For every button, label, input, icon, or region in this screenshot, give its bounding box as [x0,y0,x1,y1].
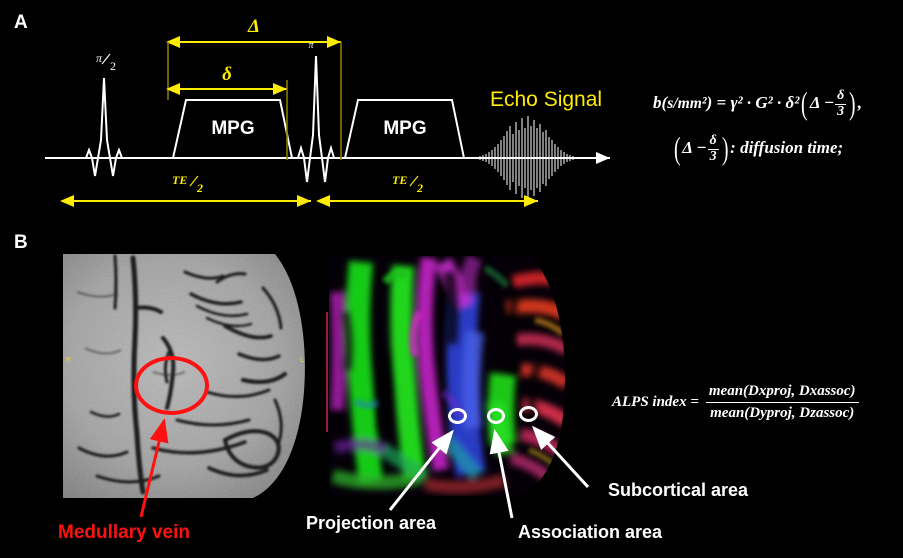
delta-small-label: δ [222,64,232,85]
mpg-label-1: MPG [211,118,254,139]
pulse-sequence-diagram: MPG MPG [0,0,620,225]
rf-pulse-pi [295,56,338,182]
dt-frac-denominator: 3 [708,150,719,165]
medullary-vein-highlight-ellipse [134,356,209,415]
b-lhs: b( [653,93,667,112]
b-paren-open: ( [801,86,808,122]
te-half-2-numerator: TE [392,173,407,187]
color-coded-dti-fa-map [325,252,588,500]
dt-tail-text: : diffusion time; [730,138,843,157]
b-paren-close: ) [849,86,856,122]
b-value-formula: b(s/mm²) = γ² · G² · δ²(Δ −δ3), (Δ −δ3):… [620,86,895,167]
roi-circle-subcortical [519,406,538,422]
te-half-1-numerator: TE [172,173,187,187]
diffusion-time-definition: (Δ −δ3): diffusion time; [620,131,895,167]
rf-pulse-pi-over-2-label: π 2 [96,51,116,73]
roi-circle-projection [448,408,467,424]
b-delta-big-term: Δ − [810,93,834,112]
b-delta-over-three: δ3 [835,89,846,119]
b-value-formula-line-1: b(s/mm²) = γ² · G² · δ²(Δ −δ3), [620,86,895,122]
te-half-2-denominator: 2 [416,181,423,195]
medullary-vein-label: Medullary vein [58,522,190,544]
orientation-marker-left: L [300,357,305,364]
te-half-label-1: TE 2 [172,173,203,195]
alps-index-numerator: mean(Dxproj, Dxassoc) [706,383,859,403]
te-half-1-denominator: 2 [196,181,203,195]
alps-index-formula: ALPS index = mean(Dxproj, Dxassoc) mean(… [612,383,897,422]
projection-area-label: Projection area [306,513,436,534]
echo-signal-label: Echo Signal [490,88,602,111]
dt-delta-over-three: δ3 [708,134,719,164]
dt-delta-term: Δ − [682,138,706,157]
pi-over-2-denominator: 2 [110,59,116,73]
b-frac-denominator: 3 [835,105,846,120]
pi-over-2-symbol: π [96,51,103,65]
b-units: s/mm² [667,95,706,113]
b-frac-numerator: δ [835,89,846,105]
orientation-marker-right: R [66,357,71,364]
rf-pulse-pi-over-2 [82,78,126,176]
dt-paren-close: ) [722,131,729,167]
figure-canvas: A MPG MPG [0,0,903,558]
b-units-denominator: mm² [678,95,707,112]
delta-big-label: Δ [247,16,260,37]
dt-frac-numerator: δ [708,134,719,150]
alps-index-denominator: mean(Dyproj, Dzassoc) [706,403,859,422]
b-equation-mid: ) = γ² · G² · δ² [707,93,800,112]
subcortical-area-label: Subcortical area [608,480,748,501]
mpg-label-2: MPG [383,118,426,139]
dt-paren-open: ( [674,131,681,167]
alps-index-lhs: ALPS index = [612,394,699,411]
roi-circle-association [487,408,505,424]
panel-b-letter: B [14,232,28,254]
te-half-label-2: TE 2 [392,173,423,195]
b-trailing-comma: , [858,93,862,112]
alps-index-fraction: mean(Dxproj, Dxassoc) mean(Dyproj, Dzass… [706,383,859,422]
b-units-numerator: s [667,95,673,112]
association-area-label: Association area [518,522,662,543]
